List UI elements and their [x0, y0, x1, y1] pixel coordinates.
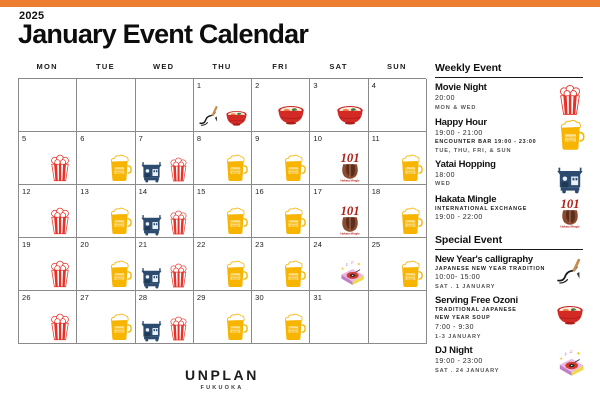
calendar-day-2[interactable]: 2 [252, 79, 310, 132]
day-icon-group: 101 Hakata Mingle [333, 137, 367, 183]
calendar-day-11[interactable]: 11 Happy Hour [369, 132, 427, 185]
svg-text:101: 101 [560, 196, 579, 210]
calendar-day-1[interactable]: 1 [194, 79, 252, 132]
svg-text:Hour: Hour [290, 277, 298, 281]
day-number: 19 [22, 240, 31, 249]
mingle-icon: 101 Hakata Mingle [553, 195, 587, 229]
logo-location: FUKUOKA [18, 385, 426, 391]
calendar-grid: 1 2 3 [18, 78, 426, 344]
calendar-day-12[interactable]: 12 [19, 185, 77, 238]
calendar-day-30[interactable]: 30 Happy Hour [252, 291, 310, 344]
beer-icon: Happy Hour [104, 259, 134, 289]
event-item[interactable]: New Year's calligraphyJAPANESE NEW YEAR … [435, 255, 587, 292]
calendar: MONTUEWEDTHUFRISATSUN 1 2 3 [18, 62, 426, 344]
svg-text:Hour: Hour [407, 224, 415, 228]
svg-text:♫: ♫ [350, 260, 354, 265]
event-icon-wrapper: 101 Hakata Mingle [553, 195, 587, 229]
day-icon-group [196, 84, 250, 130]
day-icon-group: Happy Hour [395, 137, 425, 183]
calendar-day-6[interactable]: 6 Happy Hour [77, 132, 135, 185]
event-time: 19:00 - 21:00 [435, 129, 551, 139]
day-icon-group [45, 137, 75, 183]
event-subtitle: JAPANESE NEW YEAR TRADITION [435, 266, 551, 274]
weekday-header-thu: THU [193, 62, 251, 78]
calendar-day-9[interactable]: 9 Happy Hour [252, 132, 310, 185]
event-time: 20:00 [435, 94, 551, 104]
weekly-divider [435, 77, 583, 78]
calendar-day-3[interactable]: 3 [310, 79, 368, 132]
ozoni-icon [223, 103, 250, 130]
beer-icon: Happy Hour [395, 153, 425, 183]
calendar-week-row: 26 27 Happy Hour 28 [19, 291, 427, 344]
svg-text:Hakata Mingle: Hakata Mingle [340, 232, 360, 236]
event-icon-wrapper [553, 255, 587, 289]
event-time: 18:00 [435, 171, 551, 181]
beer-icon: Happy Hour [220, 259, 250, 289]
popcorn-icon [165, 315, 192, 342]
event-days: WED [435, 180, 551, 188]
day-icon-group [274, 84, 308, 130]
calendar-day-empty [19, 79, 77, 132]
event-icon-wrapper: ♪ ♫ ✦ ✦ [553, 346, 587, 380]
event-days: SAT . 1 JANUARY [435, 283, 551, 291]
day-icon-group: 101 Hakata Mingle [333, 190, 367, 236]
ozoni-icon [553, 296, 587, 330]
event-name: Serving Free Ozoni [435, 296, 551, 307]
event-days: MON & WED [435, 104, 551, 112]
event-name: Happy Hour [435, 118, 551, 129]
event-time: 19:00 - 23:00 [435, 357, 551, 367]
event-time: 19:00 - 22:00 [435, 213, 551, 223]
yatai-icon [138, 315, 165, 342]
yatai-icon [553, 160, 587, 194]
svg-text:Hour: Hour [290, 171, 298, 175]
popcorn-icon [553, 83, 587, 117]
calendar-day-16[interactable]: 16 Happy Hour [252, 185, 310, 238]
yatai-icon [138, 209, 165, 236]
popcorn-icon [45, 259, 75, 289]
day-number: 15 [197, 187, 206, 196]
popcorn-icon [165, 156, 192, 183]
svg-text:Hour: Hour [115, 277, 123, 281]
dj-icon: ♪ ♫ ✦ ✦ [553, 346, 587, 380]
day-icon-group: Happy Hour [220, 296, 250, 342]
event-name: Hakata Mingle [435, 195, 551, 206]
calendar-day-23[interactable]: 23 Happy Hour [252, 238, 310, 291]
day-number: 5 [22, 134, 26, 143]
day-number: 30 [255, 293, 264, 302]
weekly-event-list: Movie Night20:00MON & WED Happy Hour19:0… [435, 83, 587, 225]
svg-text:101: 101 [340, 204, 359, 218]
day-icon-group [138, 296, 192, 342]
day-icon-group [138, 137, 192, 183]
ozoni-icon [333, 96, 367, 130]
weekday-header-sun: SUN [368, 62, 426, 78]
weekday-header-tue: TUE [76, 62, 134, 78]
day-icon-group: Happy Hour [104, 190, 134, 236]
beer-icon: Happy Hour [220, 312, 250, 342]
event-days: SAT . 24 JANUARY [435, 367, 551, 375]
svg-text:Hour: Hour [115, 171, 123, 175]
svg-text:♪: ♪ [345, 262, 348, 268]
svg-text:Hakata Mingle: Hakata Mingle [560, 224, 580, 228]
event-time: 7:00 - 9:30 [435, 323, 551, 333]
beer-icon: Happy Hour [104, 206, 134, 236]
beer-icon: Happy Hour [278, 206, 308, 236]
day-number: 11 [372, 134, 380, 143]
page-title: January Event Calendar [18, 21, 308, 48]
day-icon-group: Happy Hour [395, 190, 425, 236]
calendar-week-row: 12 13 Happy Hour 14 [19, 185, 427, 238]
calendar-day-22[interactable]: 22 Happy Hour [194, 238, 252, 291]
event-days: 1-3 JANUARY [435, 333, 551, 341]
popcorn-icon [45, 312, 75, 342]
special-divider [435, 249, 583, 250]
beer-icon: Happy Hour [104, 153, 134, 183]
popcorn-icon [165, 262, 192, 289]
day-icon-group [333, 84, 367, 130]
event-icon-wrapper: Happy Hour [553, 118, 587, 152]
beer-icon: Happy Hour [553, 118, 587, 152]
event-name: Yatai Hopping [435, 160, 551, 171]
calendar-day-18[interactable]: 18 Happy Hour [369, 185, 427, 238]
day-number: 8 [197, 134, 201, 143]
calligraphy-icon [196, 103, 223, 130]
day-number: 6 [80, 134, 84, 143]
calendar-day-7[interactable]: 7 [136, 132, 194, 185]
day-icon-group [45, 296, 75, 342]
special-event-heading: Special Event [435, 234, 587, 249]
popcorn-icon [165, 209, 192, 236]
svg-text:Hour: Hour [407, 171, 415, 175]
calendar-day-21[interactable]: 21 [136, 238, 194, 291]
event-name: DJ Night [435, 346, 551, 357]
calendar-day-17[interactable]: 17 101 Hakata Mingle [310, 185, 368, 238]
event-item[interactable]: Hakata MingleINTERNATIONAL EXCHANGE19:00… [435, 195, 587, 225]
event-time: 10:00- 15:00 [435, 273, 551, 283]
calendar-week-row: 1 2 3 [19, 79, 427, 132]
event-item[interactable]: DJ Night19:00 - 23:00SAT . 24 JANUARY ♪ … [435, 346, 587, 376]
day-number: 24 [313, 240, 322, 249]
calendar-day-25[interactable]: 25 Happy Hour [369, 238, 427, 291]
day-number: 29 [197, 293, 206, 302]
beer-icon: Happy Hour [278, 153, 308, 183]
day-number: 25 [372, 240, 381, 249]
calendar-week-row: 5 6 Happy Hour 7 [19, 132, 427, 185]
event-item[interactable]: Movie Night20:00MON & WED [435, 83, 587, 113]
yatai-icon [138, 262, 165, 289]
event-icon-wrapper [553, 83, 587, 117]
day-number: 9 [255, 134, 259, 143]
popcorn-icon [45, 206, 75, 236]
day-number: 22 [197, 240, 206, 249]
ozoni-icon [274, 96, 308, 130]
svg-text:Hour: Hour [232, 171, 240, 175]
dj-icon: ♪ ♫ ✦ ✦ [335, 257, 367, 289]
svg-text:101: 101 [340, 151, 359, 165]
event-days: TUE, THU, FRI, & SUN [435, 147, 551, 155]
calendar-day-28[interactable]: 28 [136, 291, 194, 344]
event-name: New Year's calligraphy [435, 255, 551, 266]
calligraphy-icon [553, 255, 587, 289]
calendar-day-15[interactable]: 15 Happy Hour [194, 185, 252, 238]
svg-text:✦: ✦ [576, 350, 581, 357]
beer-icon: Happy Hour [395, 206, 425, 236]
day-number: 2 [255, 81, 259, 90]
event-icon-wrapper [553, 296, 587, 330]
day-icon-group: Happy Hour [104, 137, 134, 183]
calendar-day-26[interactable]: 26 [19, 291, 77, 344]
day-number: 20 [80, 240, 89, 249]
svg-text:✦: ✦ [559, 356, 563, 362]
day-icon-group: Happy Hour [220, 243, 250, 289]
day-number: 26 [22, 293, 31, 302]
logo-name: UNPLAN [18, 368, 426, 383]
yatai-icon [138, 156, 165, 183]
event-subtitle: INTERNATIONAL EXCHANGE [435, 206, 551, 214]
day-number: 3 [313, 81, 317, 90]
svg-text:Hour: Hour [290, 330, 298, 334]
event-icon-wrapper [553, 160, 587, 194]
calendar-poster: 2025 January Event Calendar MONTUEWEDTHU… [0, 0, 600, 400]
svg-text:Hour: Hour [232, 277, 240, 281]
beer-icon: Happy Hour [220, 206, 250, 236]
calendar-week-row: 19 20 Happy Hour 21 [19, 238, 427, 291]
calendar-day-10[interactable]: 10 101 Hakata Mingle [310, 132, 368, 185]
brand-logo: UNPLAN FUKUOKA [18, 368, 426, 391]
day-icon-group [138, 243, 192, 289]
calendar-day-5[interactable]: 5 [19, 132, 77, 185]
beer-icon: Happy Hour [395, 259, 425, 289]
day-icon-group: Happy Hour [278, 137, 308, 183]
day-icon-group [45, 243, 75, 289]
calendar-day-8[interactable]: 8 Happy Hour [194, 132, 252, 185]
day-number: 12 [22, 187, 31, 196]
day-icon-group: Happy Hour [278, 296, 308, 342]
day-icon-group: Happy Hour [220, 190, 250, 236]
event-item[interactable]: Happy Hour19:00 - 21:00ENCOUNTER BAR 19:… [435, 118, 587, 155]
svg-text:✦: ✦ [356, 261, 361, 268]
calendar-day-24[interactable]: 24 ♪ ♫ ✦ ✦ [310, 238, 368, 291]
svg-text:Hour: Hour [407, 277, 415, 281]
day-icon-group: Happy Hour [395, 243, 425, 289]
mingle-icon: 101 Hakata Mingle [333, 202, 367, 236]
calendar-day-14[interactable]: 14 [136, 185, 194, 238]
day-number: 27 [80, 293, 89, 302]
day-number: 31 [313, 293, 322, 302]
day-icon-group: Happy Hour [220, 137, 250, 183]
weekday-header-sat: SAT [309, 62, 367, 78]
svg-text:Hour: Hour [115, 330, 123, 334]
weekly-event-heading: Weekly Event [435, 62, 587, 77]
event-name: Movie Night [435, 83, 551, 94]
day-icon-group: Happy Hour [278, 190, 308, 236]
beer-icon: Happy Hour [220, 153, 250, 183]
day-icon-group [138, 190, 192, 236]
event-item[interactable]: Yatai Hopping18:00WED [435, 160, 587, 190]
svg-text:♪: ♪ [564, 351, 567, 357]
beer-icon: Happy Hour [104, 312, 134, 342]
mingle-icon: 101 Hakata Mingle [333, 149, 367, 183]
beer-icon: Happy Hour [278, 312, 308, 342]
calendar-day-27[interactable]: 27 Happy Hour [77, 291, 135, 344]
svg-text:Hour: Hour [290, 224, 298, 228]
beer-icon: Happy Hour [278, 259, 308, 289]
day-icon-group: Happy Hour [104, 296, 134, 342]
top-accent-bar [0, 0, 600, 7]
day-number: 10 [313, 134, 322, 143]
event-sidebar: Weekly Event Movie Night20:00MON & WED H… [435, 62, 587, 381]
svg-text:✦: ✦ [340, 267, 344, 273]
day-number: 18 [372, 187, 381, 196]
svg-text:Hour: Hour [115, 224, 123, 228]
event-subtitle: ENCOUNTER BAR 19:00 - 23:00 [435, 139, 551, 147]
day-number: 13 [80, 187, 89, 196]
calendar-day-19[interactable]: 19 [19, 238, 77, 291]
svg-text:Hour: Hour [232, 330, 240, 334]
event-item[interactable]: Serving Free OzoniTRADITIONAL JAPANESE N… [435, 296, 587, 340]
event-subtitle: TRADITIONAL JAPANESE NEW YEAR SOUP [435, 307, 551, 323]
weekday-header-mon: MON [18, 62, 76, 78]
svg-text:Hour: Hour [232, 224, 240, 228]
calendar-day-31[interactable]: 31 [310, 291, 368, 344]
day-number: 17 [313, 187, 322, 196]
calendar-day-20[interactable]: 20 Happy Hour [77, 238, 135, 291]
special-event-list: New Year's calligraphyJAPANESE NEW YEAR … [435, 255, 587, 376]
popcorn-icon [45, 153, 75, 183]
calendar-day-4[interactable]: 4 [369, 79, 427, 132]
day-icon-group: Happy Hour [278, 243, 308, 289]
calendar-day-empty [369, 291, 427, 344]
weekday-header-wed: WED [135, 62, 193, 78]
svg-text:♫: ♫ [569, 349, 573, 355]
weekday-header-fri: FRI [251, 62, 309, 78]
day-number: 16 [255, 187, 264, 196]
calendar-day-13[interactable]: 13 Happy Hour [77, 185, 135, 238]
day-number: 23 [255, 240, 264, 249]
calendar-day-empty [77, 79, 135, 132]
weekday-header-row: MONTUEWEDTHUFRISATSUN [18, 62, 426, 78]
svg-text:Hakata Mingle: Hakata Mingle [340, 179, 360, 183]
calendar-day-29[interactable]: 29 Happy Hour [194, 291, 252, 344]
calendar-day-empty [136, 79, 194, 132]
day-number: 4 [372, 81, 376, 90]
day-icon-group: Happy Hour [104, 243, 134, 289]
day-icon-group [45, 190, 75, 236]
svg-text:Hour: Hour [566, 139, 575, 143]
day-icon-group: ♪ ♫ ✦ ✦ [335, 243, 367, 289]
